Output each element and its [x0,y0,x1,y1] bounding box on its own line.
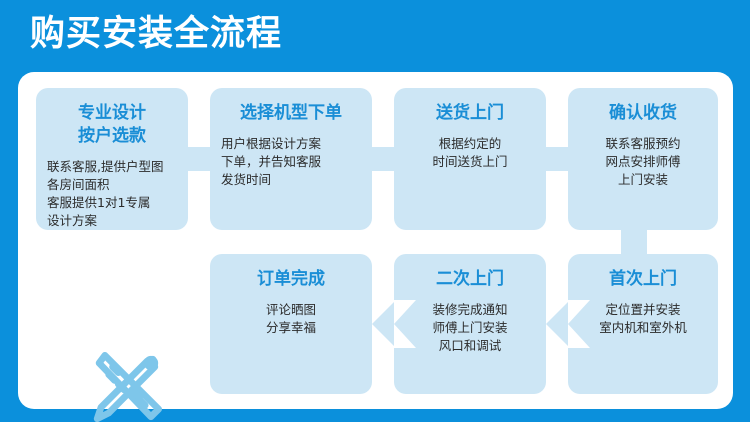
step-card-3[interactable]: 送货上门 根据约定的 时间送货上门 [394,88,546,230]
step-card-5[interactable]: 首次上门 定位置并安装 室内机和室外机 [568,254,718,394]
step-card-1-title: 专业设计 按户选款 [36,102,188,148]
page-title: 购买安装全流程 [30,8,282,60]
connector-step2-step3 [370,147,396,171]
connector-step3-step4 [544,147,570,171]
step-card-1[interactable]: 专业设计 按户选款 联系客服,提供户型图 各房间面积 客服提供1对1专属 设计方… [36,88,188,230]
pencil-ruler-icon [78,340,174,422]
step-card-2-title: 选择机型下单 [210,102,372,125]
content-panel: 专业设计 按户选款 联系客服,提供户型图 各房间面积 客服提供1对1专属 设计方… [18,72,733,409]
connector-step4-step5 [621,228,647,256]
connector-step1-step2 [186,147,212,171]
step-card-7[interactable]: 订单完成 评论晒图 分享幸福 [210,254,372,394]
step-card-2-body: 用户根据设计方案 下单，并告知客服 发货时间 [210,135,372,189]
step-card-4[interactable]: 确认收货 联系客服预约 网点安排师傅 上门安装 [568,88,718,230]
arrow-step5-step6 [546,300,570,348]
step-card-5-title: 首次上门 [568,268,718,291]
step-card-7-title: 订单完成 [210,268,372,291]
step-card-6[interactable]: 二次上门 装修完成通知 师傅上门安装 风口和调试 [394,254,546,394]
arrow-step6-step7 [372,300,396,348]
step-card-3-body: 根据约定的 时间送货上门 [394,135,546,171]
step-card-7-body: 评论晒图 分享幸福 [210,301,372,337]
step-card-6-body: 装修完成通知 师傅上门安装 风口和调试 [394,301,546,355]
step-card-4-body: 联系客服预约 网点安排师傅 上门安装 [568,135,718,189]
step-card-1-body: 联系客服,提供户型图 各房间面积 客服提供1对1专属 设计方案 [36,158,188,230]
step-card-3-title: 送货上门 [394,102,546,125]
step-card-4-title: 确认收货 [568,102,718,125]
step-card-6-title: 二次上门 [394,268,546,291]
step-card-5-body: 定位置并安装 室内机和室外机 [568,301,718,337]
process-infographic: 购买安装全流程 专业设计 按户选款 联系客服,提供户型图 各房间面积 客服提供1… [0,0,750,422]
step-card-2[interactable]: 选择机型下单 用户根据设计方案 下单，并告知客服 发货时间 [210,88,372,230]
